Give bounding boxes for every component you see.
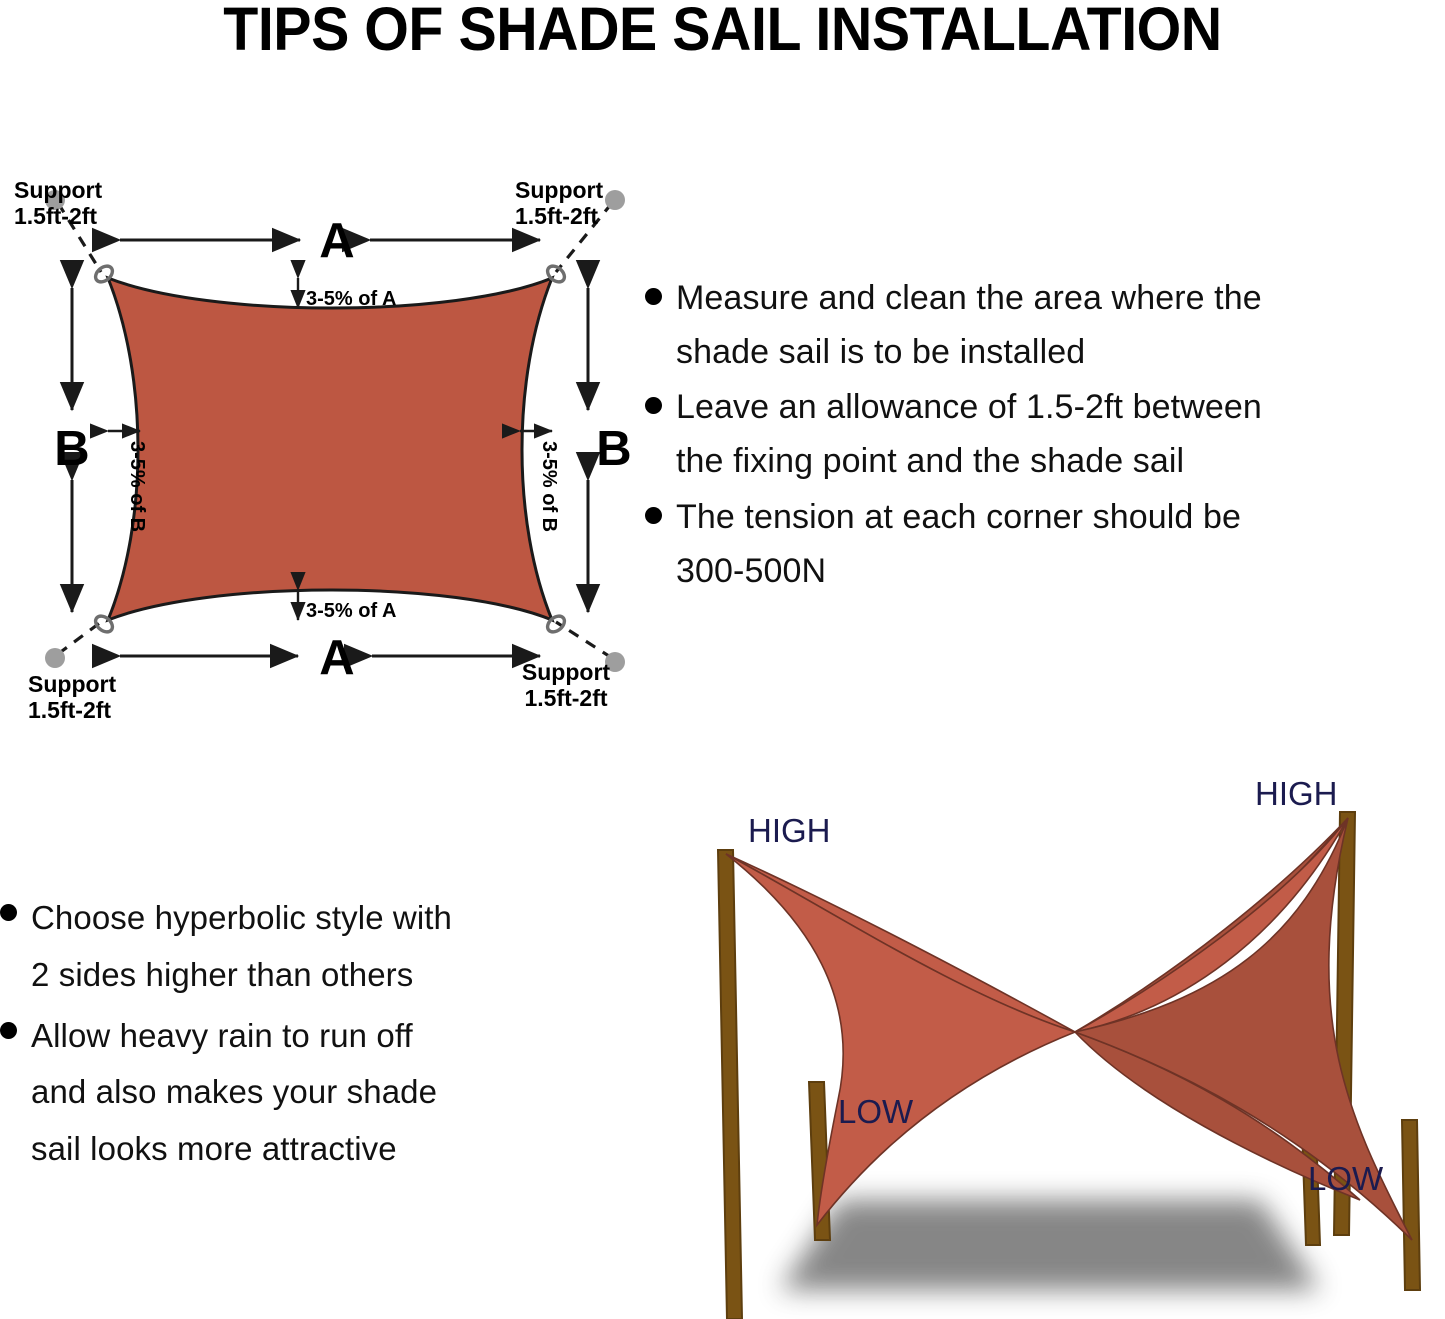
tip-line: shade sail is to be installed — [676, 333, 1085, 371]
label-a-top: A — [319, 214, 354, 268]
bullet-dot-icon — [645, 397, 662, 414]
tip-line: 2 sides higher than others — [31, 956, 413, 993]
list-item: Leave an allowance of 1.5-2ft between th… — [645, 381, 1445, 488]
label-a-bottom: A — [319, 631, 354, 685]
tip-line: sail looks more attractive — [31, 1130, 397, 1167]
bullet-dot-icon — [0, 1022, 17, 1039]
label-low-right: LOW — [1308, 1160, 1384, 1197]
ground-shadow — [780, 1200, 1320, 1290]
support-label-top-right-line2: 1.5ft-2ft — [515, 203, 598, 229]
list-item: Choose hyperbolic style with 2 sides hig… — [0, 890, 630, 1004]
rectangular-sail-diagram: A A B B 3-5% of A 3-5% of A 3-5% of B 3-… — [0, 150, 660, 740]
tip-line: Allow heavy rain to run off — [31, 1017, 413, 1054]
list-item: The tension at each corner should be 300… — [645, 491, 1445, 598]
support-label-bottom-left-line2: 1.5ft-2ft — [28, 697, 111, 723]
installation-tips-list: Measure and clean the area where the sha… — [645, 272, 1445, 600]
leader-bottom-right — [556, 622, 612, 658]
label-curve-top: 3-5% of A — [306, 288, 396, 310]
support-label-top-left-line1: Support — [14, 177, 102, 203]
page-title: TIPS OF SHADE SAIL INSTALLATION — [43, 0, 1401, 62]
tip-line: Leave an allowance of 1.5-2ft between — [676, 388, 1262, 426]
support-dot-top-right — [605, 190, 625, 210]
tip-text: The tension at each corner should be 300… — [676, 491, 1241, 598]
tip-text: Leave an allowance of 1.5-2ft between th… — [676, 381, 1262, 488]
pole-high-left — [718, 850, 742, 1319]
support-label-bottom-right-line1: Support — [522, 659, 610, 685]
list-item: Measure and clean the area where the sha… — [645, 272, 1445, 379]
tip-line: and also makes your shade — [31, 1073, 437, 1110]
tip-line: The tension at each corner should be — [676, 498, 1241, 536]
sail-front-left-panel — [726, 854, 1075, 1225]
label-low-left: LOW — [838, 1093, 914, 1130]
bullet-dot-icon — [0, 904, 17, 921]
label-b-right: B — [596, 422, 631, 476]
label-curve-left: 3-5% of B — [126, 441, 148, 532]
bullet-dot-icon — [645, 507, 662, 524]
tip-text: Choose hyperbolic style with 2 sides hig… — [31, 890, 452, 1004]
label-curve-bottom: 3-5% of A — [306, 600, 396, 622]
list-item: Allow heavy rain to run off and also mak… — [0, 1008, 630, 1178]
support-label-top-left-line2: 1.5ft-2ft — [14, 203, 97, 229]
support-label-bottom-right-line2: 1.5ft-2ft — [524, 685, 607, 711]
tip-line: Choose hyperbolic style with — [31, 899, 452, 936]
tip-text: Measure and clean the area where the sha… — [676, 272, 1262, 379]
support-label-bottom-left-line1: Support — [28, 671, 116, 697]
bullet-dot-icon — [645, 288, 662, 305]
hyperbolic-tips-list: Choose hyperbolic style with 2 sides hig… — [0, 890, 630, 1182]
label-high-left: HIGH — [748, 812, 831, 849]
tip-line: 300-500N — [676, 552, 826, 590]
leader-bottom-left — [58, 622, 101, 654]
support-dot-bottom-left — [45, 648, 65, 668]
sail-shape — [108, 278, 552, 620]
pole-low-right — [1402, 1120, 1420, 1290]
tip-line: the fixing point and the shade sail — [676, 442, 1184, 480]
tip-line: Measure and clean the area where the — [676, 279, 1262, 317]
support-label-top-right-line1: Support — [515, 177, 603, 203]
label-b-left: B — [54, 422, 89, 476]
tip-text: Allow heavy rain to run off and also mak… — [31, 1008, 437, 1178]
label-high-right: HIGH — [1255, 775, 1338, 812]
hyperbolic-sail-diagram: HIGH HIGH LOW LOW — [660, 770, 1445, 1319]
label-curve-right: 3-5% of B — [538, 441, 560, 532]
